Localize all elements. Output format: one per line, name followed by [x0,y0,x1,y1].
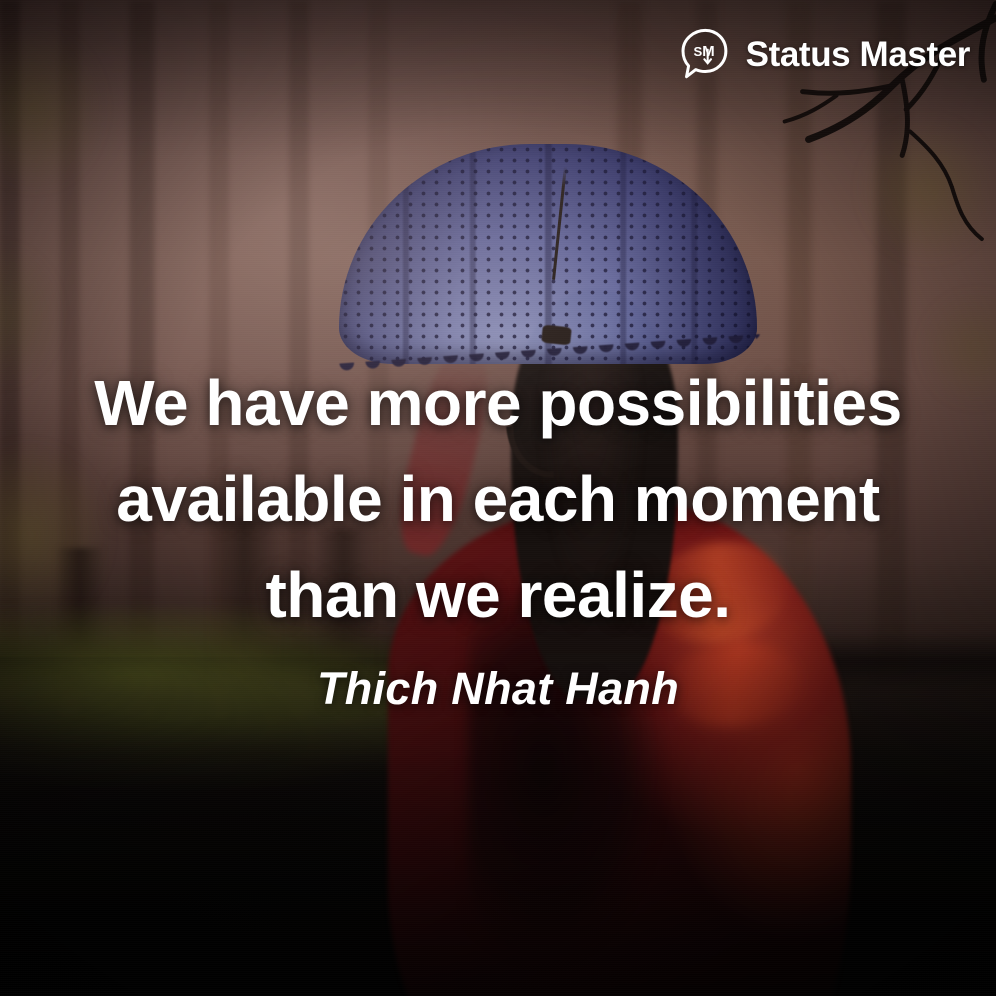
quote-line-2: available in each moment [0,451,996,547]
brand-watermark[interactable]: S M Status Master [676,26,970,82]
umbrella [339,144,757,363]
status-master-logo-icon: S M [676,26,732,82]
quote-author: Thich Nhat Hanh [0,663,996,715]
svg-text:S: S [693,44,702,59]
quote-line-3: than we realize. [0,547,996,643]
quote-text-block: We have more possibilities available in … [0,355,996,643]
brand-name: Status Master [746,37,970,72]
quote-card: S M Status Master We have more possibili… [0,0,996,996]
speech-bubble-icon: S M [676,26,732,82]
quote-line-1: We have more possibilities [0,355,996,451]
umbrella-hub [541,325,572,345]
